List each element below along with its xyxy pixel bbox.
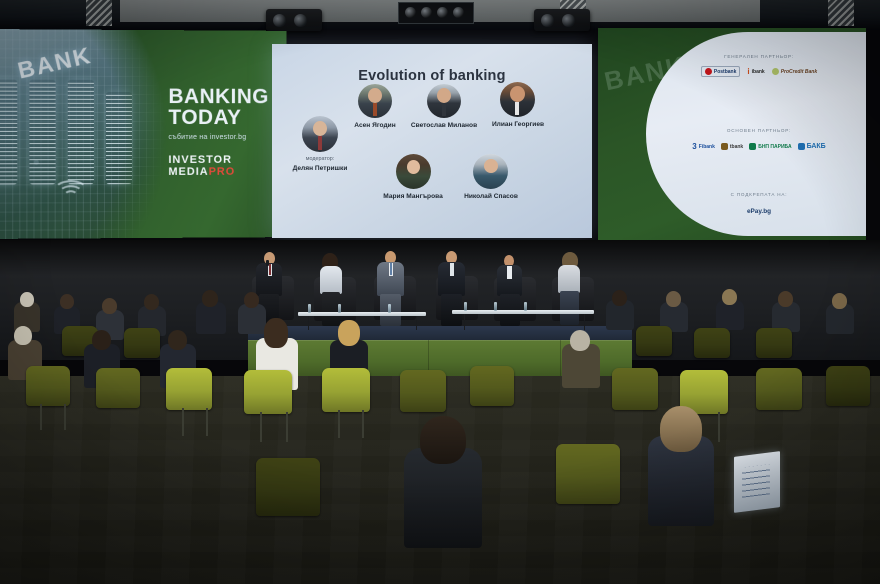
attendee-head: [168, 330, 187, 350]
slide-title: Evolution of banking: [272, 68, 592, 84]
projection-screen-wall: BANK BANKING TODAY събитие на investor.b…: [0, 22, 880, 240]
screen-right-sponsors: BANK ГЕНЕРАЛЕН ПАРТНЬОР: Postbank i iban…: [598, 28, 866, 240]
general-partner-logos: Postbank i ibank ProCredit Bank: [646, 66, 866, 77]
screen-left-branding: BANK BANKING TODAY събитие на investor.b…: [0, 29, 287, 239]
audience-chair: [244, 370, 292, 414]
brand-line-2: TODAY: [168, 107, 268, 128]
audience-chair: [756, 368, 802, 410]
panelist-3-name: Илиан Георгиев: [479, 121, 557, 128]
attendee-head: [244, 292, 259, 308]
panelist-2-name: Светослав Миланов: [403, 122, 485, 129]
avatar-moderator: [302, 116, 338, 152]
publisher-accent: PRO: [209, 165, 236, 177]
audience-chair: [26, 366, 70, 406]
main-partner-logos: 3 Fibank tbank БНП ПАРИБА БАКБ: [646, 142, 866, 151]
logo-procredit-bank: ProCredit Bank: [772, 68, 817, 75]
attendee-head: [202, 290, 218, 307]
attendee-head: [60, 294, 74, 309]
audience-chair: [166, 368, 212, 410]
audience-chair: [256, 458, 320, 516]
brand-line-1: BANKING: [168, 86, 268, 107]
wifi-icon: [52, 180, 86, 202]
attendee-head: [264, 318, 288, 348]
attendee-head: [570, 330, 590, 351]
panelist-1-name: Асен Ягодин: [342, 122, 408, 129]
laptop-text-lines: [742, 464, 770, 497]
conference-photo: BANK BANKING TODAY събитие на investor.b…: [0, 0, 880, 584]
attendee-head: [338, 320, 360, 346]
brand-subtitle: събитие на investor.bg: [168, 132, 268, 141]
ceiling-speaker-array: [398, 2, 474, 24]
attendee-head: [92, 330, 111, 350]
attendee-head: [102, 298, 117, 314]
avatar-panelist-3: [500, 82, 535, 117]
avatar-panelist-1: [358, 84, 392, 118]
avatar-panelist-4: [396, 154, 431, 189]
publisher-line-2: MEDIA: [168, 165, 208, 177]
logo-fibank: 3 Fibank: [692, 142, 715, 151]
audience: [0, 288, 880, 584]
logo-ibank: i ibank: [747, 67, 764, 76]
attendee-head: [832, 293, 847, 309]
investor-media-pro-logo: INVESTOR MEDIAPRO: [168, 155, 268, 178]
audience-chair: [636, 326, 672, 356]
audience-chair: [756, 328, 792, 358]
audience-chair: [612, 368, 658, 410]
attendee-head: [666, 291, 681, 307]
audience-chair: [826, 366, 870, 406]
avatar-panelist-2: [427, 84, 461, 118]
screen-center-slide: Evolution of banking модератор: Делян Пе…: [272, 44, 592, 238]
logo-postbank: Postbank: [701, 66, 741, 77]
sponsor-sheet: ГЕНЕРАЛЕН ПАРТНЬОР: Postbank i ibank Pro…: [646, 32, 866, 236]
banking-today-brand: BANKING TODAY събитие на investor.bg INV…: [168, 86, 268, 178]
attendee-head: [722, 289, 737, 305]
audience-chair: [694, 328, 730, 358]
attendee-head: [660, 406, 702, 452]
audience-chair: [470, 366, 514, 406]
heading-main-partner: ОСНОВЕН ПАРТНЬОР:: [646, 128, 866, 133]
logo-tbank: tbank: [721, 143, 743, 150]
avatar-panelist-5: [473, 154, 508, 189]
panelist-4-name: Мария Мангърова: [373, 193, 453, 200]
audience-chair: [400, 370, 446, 412]
panelist-5-name: Николай Спасов: [453, 193, 529, 200]
logo-bnp-paribas: БНП ПАРИБА: [749, 143, 791, 150]
attendee-head: [144, 294, 159, 310]
audience-chair: [556, 444, 620, 504]
attendee-head: [14, 326, 32, 345]
attendee: [238, 304, 266, 334]
audience-chair: [96, 368, 140, 408]
heading-general-partner: ГЕНЕРАЛЕН ПАРТНЬОР:: [646, 54, 866, 59]
logo-bacb: БАКБ: [798, 143, 826, 150]
attendee-head: [20, 292, 34, 307]
attendee-head: [612, 290, 627, 306]
moderator-name: Делян Петришки: [278, 165, 362, 172]
logo-epay: ePay.bg: [646, 208, 866, 215]
audience-chair: [124, 328, 160, 358]
audience-chair: [322, 368, 370, 412]
moderator-label: модератор:: [282, 156, 358, 162]
attendee-head: [778, 291, 793, 307]
heading-support: С ПОДКРЕПАТА НА:: [646, 192, 866, 197]
attendee-head: [420, 416, 466, 464]
